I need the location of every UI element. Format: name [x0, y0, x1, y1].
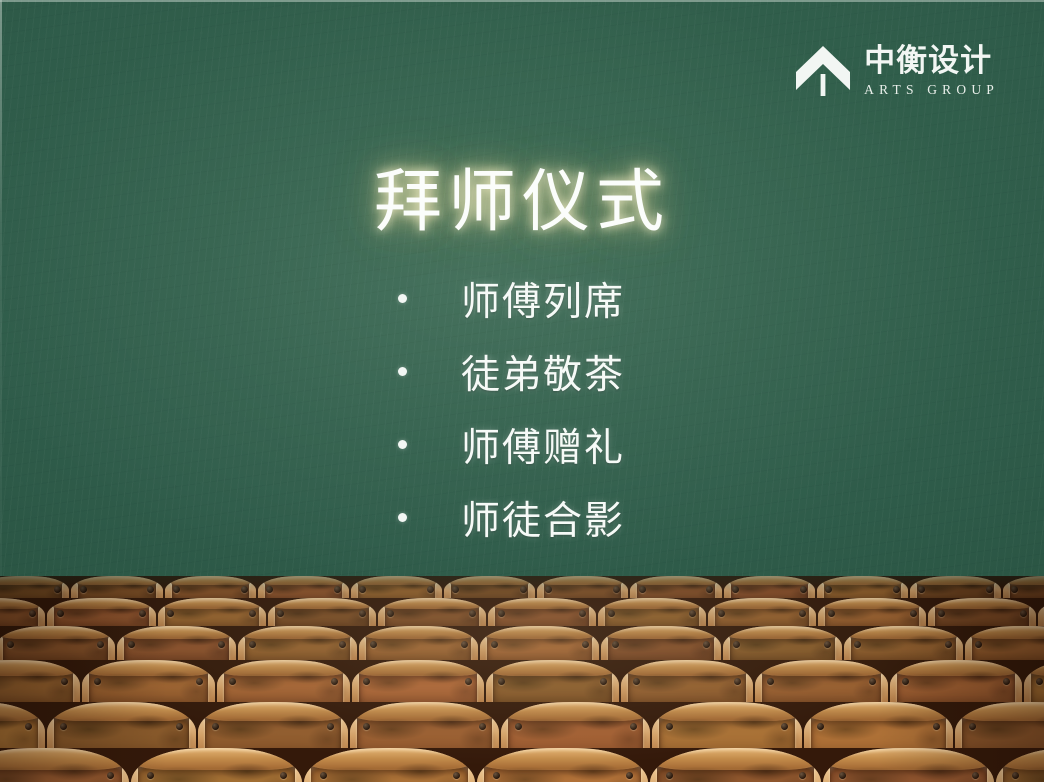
- slide-top-edge: [0, 0, 1044, 2]
- bullet-dot-icon: [398, 440, 407, 449]
- logo-wordmark: 中衡设计 ARTS GROUP: [864, 46, 999, 97]
- logo-name-en: ARTS GROUP: [864, 83, 999, 97]
- house-chevron-icon: [795, 44, 851, 98]
- presentation-slide: 中衡设计 ARTS GROUP 拜师仪式 师傅列席 徒弟敬茶 师傅赠礼 师徒合影: [0, 0, 1044, 782]
- bullet-dot-icon: [398, 367, 407, 376]
- list-item: 师傅列席: [398, 262, 625, 335]
- auditorium-seats-overlay: [0, 576, 1044, 782]
- bullet-label: 徒弟敬茶: [461, 344, 625, 400]
- bullet-label: 师徒合影: [461, 490, 625, 546]
- bullet-label: 师傅列席: [461, 271, 625, 327]
- bullet-dot-icon: [398, 294, 407, 303]
- list-item: 师傅赠礼: [398, 408, 625, 481]
- slide-title: 拜师仪式: [0, 146, 1044, 245]
- bullet-dot-icon: [398, 513, 407, 522]
- list-item: 师徒合影: [398, 481, 625, 554]
- logo-name-cn: 中衡设计: [864, 46, 999, 77]
- bullet-list: 师傅列席 徒弟敬茶 师傅赠礼 师徒合影: [398, 262, 625, 554]
- bullet-label: 师傅赠礼: [461, 417, 625, 473]
- seats-lighting-overlay: [0, 576, 1044, 782]
- list-item: 徒弟敬茶: [398, 335, 625, 408]
- brand-logo: 中衡设计 ARTS GROUP: [795, 44, 999, 98]
